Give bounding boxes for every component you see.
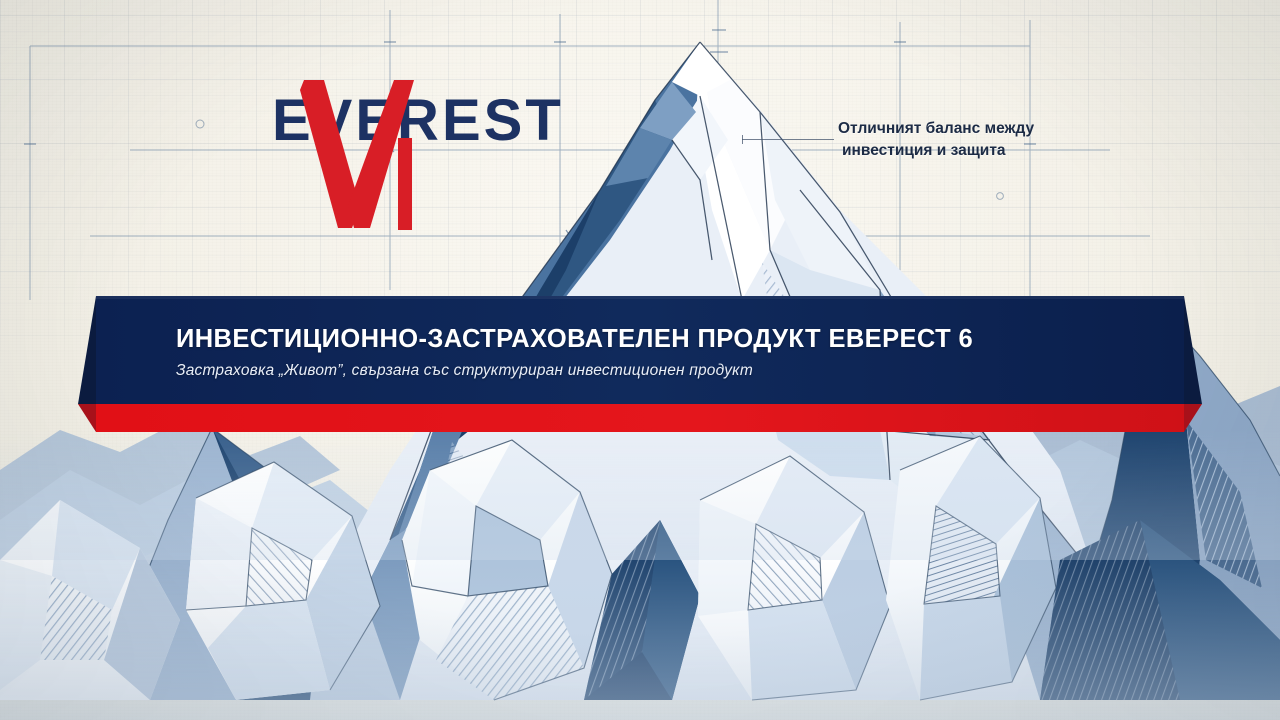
banner-text-block: ИНВЕСТИЦИОННО-ЗАСТРАХОВАТЕЛЕН ПРОДУКТ ЕВ… bbox=[176, 325, 1076, 380]
everest-logo[interactable]: EVEREST bbox=[272, 92, 542, 242]
fog-band-lower bbox=[0, 560, 1280, 720]
banner-subtitle: Застраховка „Живот”, свързана със структ… bbox=[176, 362, 1076, 380]
title-banner: ИНВЕСТИЦИОННО-ЗАСТРАХОВАТЕЛЕН ПРОДУКТ ЕВ… bbox=[0, 280, 1280, 445]
banner-title: ИНВЕСТИЦИОННО-ЗАСТРАХОВАТЕЛЕН ПРОДУКТ ЕВ… bbox=[176, 325, 1076, 353]
tagline-line-2: инвестиция и защита bbox=[838, 140, 1088, 162]
slide-canvas: EVEREST Отличният баланс между инвестици… bbox=[0, 0, 1280, 720]
tagline-line-1: Отличният баланс между bbox=[838, 118, 1088, 140]
logo-roman-numeral-vi-icon bbox=[298, 78, 448, 238]
tagline: Отличният баланс между инвестиция и защи… bbox=[838, 118, 1088, 163]
fog-band-upper bbox=[0, 430, 1280, 560]
tagline-leader-line bbox=[742, 139, 834, 140]
